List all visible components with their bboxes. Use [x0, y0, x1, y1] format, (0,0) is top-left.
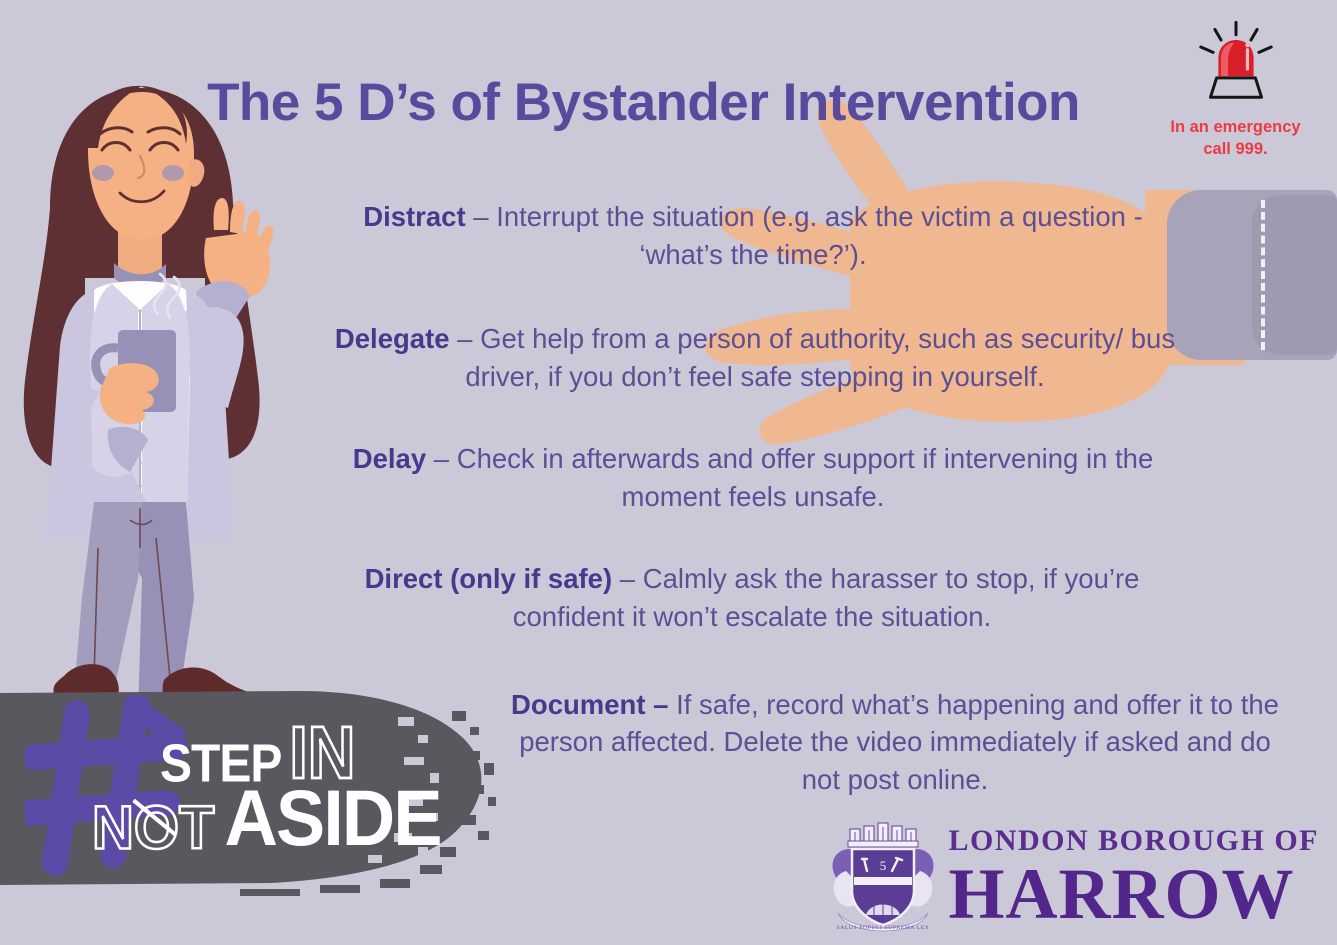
- tip-document: Document – If safe, record what’s happen…: [500, 686, 1290, 800]
- tip-delay-text: Check in afterwards and offer support if…: [457, 443, 1154, 512]
- campaign-word-not: NOT: [92, 793, 214, 863]
- tip-document-dash: [668, 689, 676, 720]
- woman-illustration: [0, 78, 310, 718]
- tip-distract-dash: –: [466, 201, 497, 232]
- emergency-line-2: call 999.: [1148, 138, 1323, 160]
- emergency-notice: In an emergency call 999.: [1148, 16, 1323, 161]
- tip-distract-term: Distract: [363, 201, 465, 232]
- tip-delegate-dash: –: [450, 323, 481, 354]
- tip-delay-term: Delay: [353, 443, 426, 474]
- campaign-word-aside: ASIDE: [224, 773, 440, 863]
- tip-distract: Distract – Interrupt the situation (e.g.…: [318, 198, 1188, 274]
- tip-direct-term: Direct (only if safe): [365, 563, 613, 594]
- tip-delegate-text: Get help from a person of authority, suc…: [465, 323, 1175, 392]
- harrow-council-logo: 5 SALUS POPULI SUPREMA LEX LONDON BOROUG…: [826, 819, 1319, 937]
- tip-delegate: Delegate – Get help from a person of aut…: [330, 320, 1180, 396]
- svg-text:5: 5: [880, 858, 887, 873]
- tip-distract-text: Interrupt the situation (e.g. ask the vi…: [496, 201, 1143, 270]
- harrow-main-line: HARROW: [948, 858, 1319, 930]
- tip-direct: Direct (only if safe) – Calmly ask the h…: [322, 560, 1182, 636]
- emergency-line-1: In an emergency: [1148, 116, 1323, 138]
- emergency-siren-icon: [1192, 16, 1280, 108]
- tip-document-term: Document –: [511, 689, 668, 720]
- page-title: The 5 D’s of Bystander Intervention: [0, 72, 1337, 133]
- woman-figure-icon: [0, 78, 310, 718]
- campaign-logo: STEP IN NOT ASIDE: [0, 665, 500, 915]
- harrow-top-line: LONDON BOROUGH OF: [948, 826, 1319, 856]
- tip-direct-dash: –: [612, 563, 643, 594]
- campaign-line-two: NOT ASIDE: [92, 778, 441, 863]
- harrow-wordmark: LONDON BOROUGH OF HARROW: [948, 826, 1319, 930]
- tip-delay: Delay – Check in afterwards and offer su…: [318, 440, 1188, 516]
- sleeve-stitching: [1261, 200, 1265, 350]
- svg-text:SALUS POPULI SUPREMA LEX: SALUS POPULI SUPREMA LEX: [837, 925, 930, 931]
- poster-canvas: The 5 D’s of Bystander Intervention In a…: [0, 0, 1337, 945]
- tip-delay-dash: –: [426, 443, 457, 474]
- harrow-crest-icon: 5 SALUS POPULI SUPREMA LEX: [826, 819, 934, 937]
- tip-delegate-term: Delegate: [335, 323, 450, 354]
